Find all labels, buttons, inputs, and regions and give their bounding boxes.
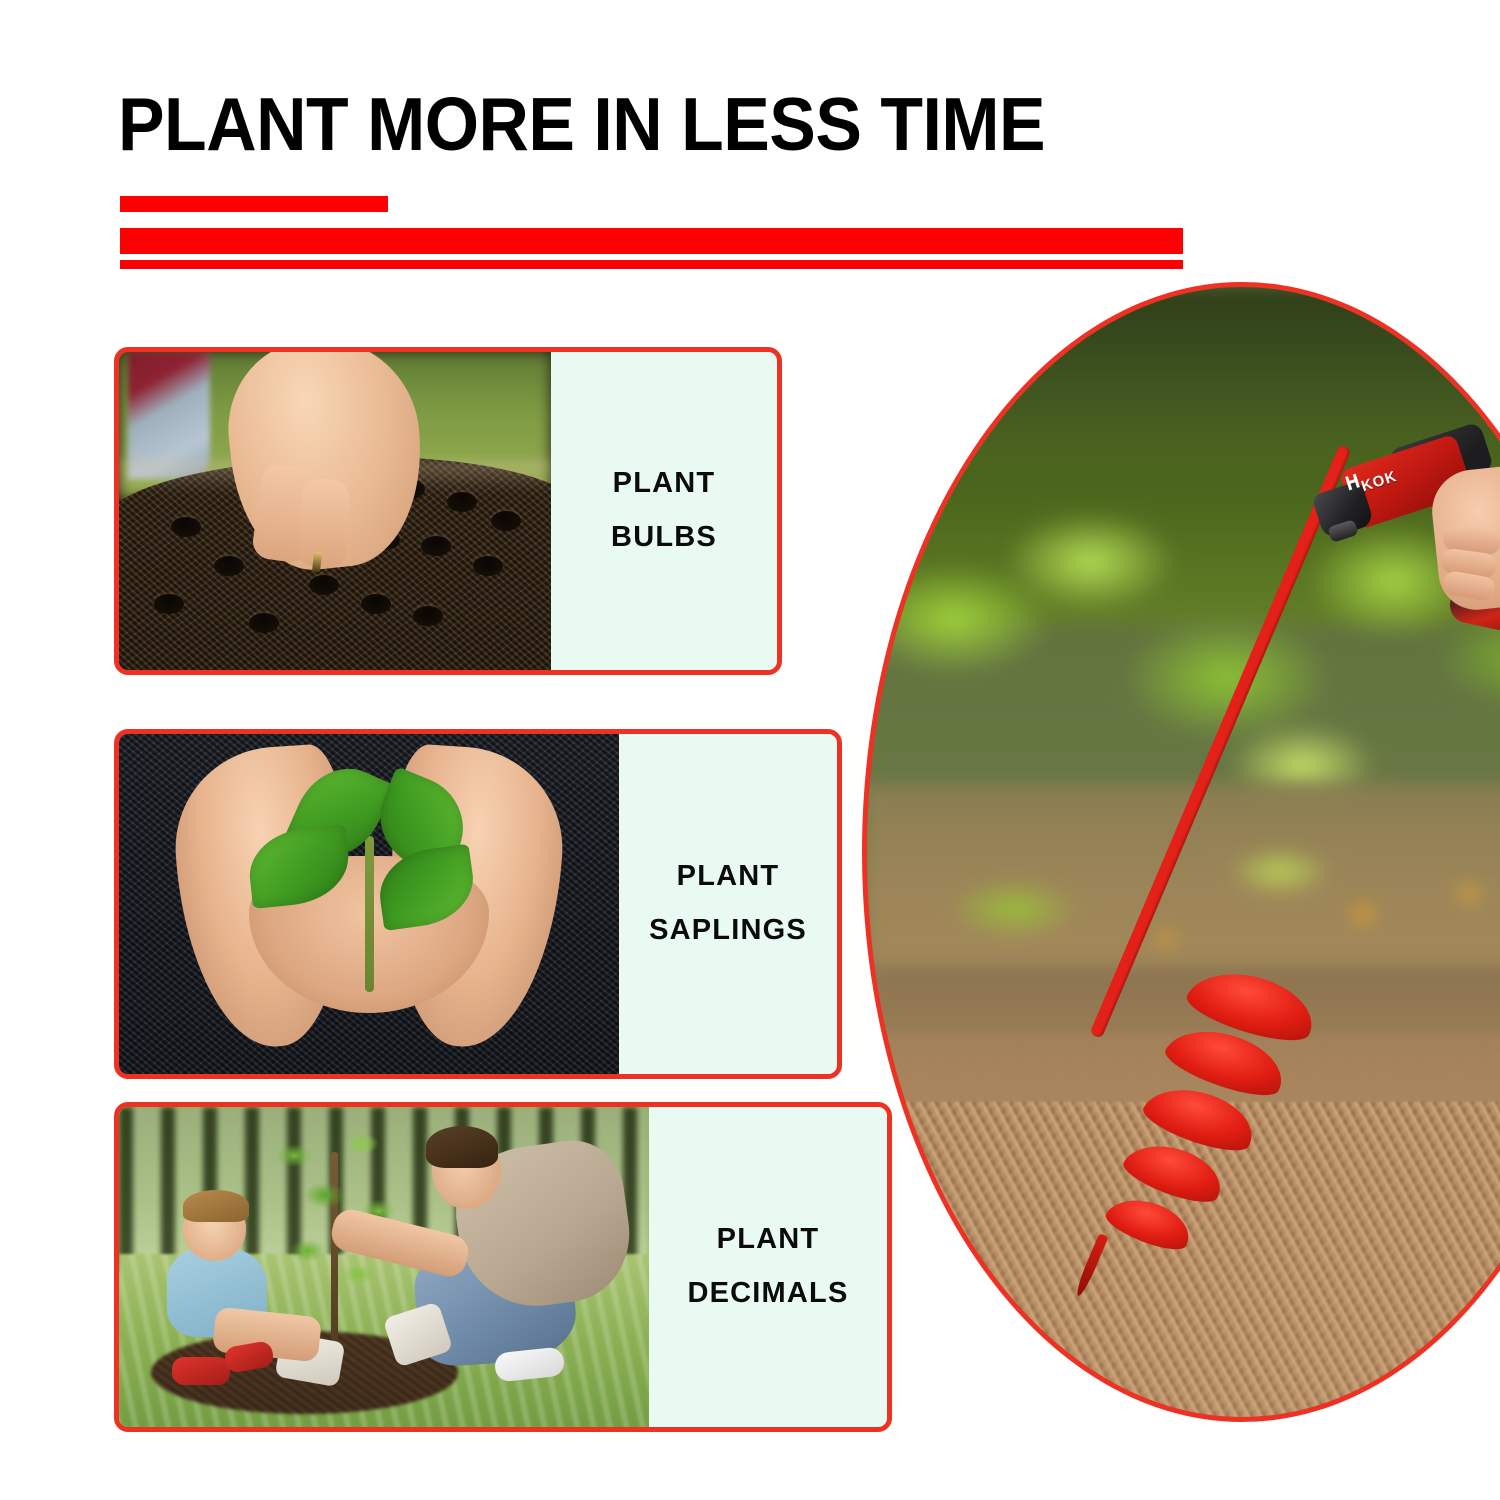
soil-hole bbox=[249, 613, 279, 633]
poster-canvas: PLANT MORE IN LESS TIME bbox=[0, 0, 1500, 1500]
feature-photo-plant-saplings bbox=[119, 734, 619, 1074]
feature-label-line2: DECIMALS bbox=[687, 1267, 848, 1321]
accent-rule-short bbox=[120, 196, 388, 212]
soil-hole bbox=[154, 594, 184, 614]
soil-hole bbox=[491, 511, 521, 531]
photo-boy-shoe bbox=[172, 1357, 230, 1386]
page-title: PLANT MORE IN LESS TIME bbox=[118, 86, 1045, 163]
feature-card-plant-bulbs[interactable]: PLANT BULBS bbox=[114, 347, 782, 675]
photo-boy-hair bbox=[183, 1190, 249, 1222]
photo-man-hair bbox=[426, 1126, 498, 1168]
feature-photo-plant-decimals bbox=[119, 1107, 649, 1427]
photo-hands-sapling bbox=[119, 734, 619, 1074]
auger-shaft bbox=[1089, 444, 1351, 1038]
auger-tool: KOK bbox=[867, 287, 1500, 1417]
cordless-drill: KOK bbox=[1339, 435, 1500, 635]
soil-hole bbox=[214, 556, 244, 576]
feature-label-line1: PLANT bbox=[613, 457, 716, 511]
photo-finger bbox=[298, 478, 350, 569]
accent-rule-thin bbox=[120, 260, 1183, 269]
accent-rule-thick bbox=[120, 228, 1183, 254]
soil-hole bbox=[473, 556, 503, 576]
soil-hole bbox=[447, 492, 477, 512]
feature-label-line2: SAPLINGS bbox=[649, 904, 807, 958]
auger-flight bbox=[1100, 1189, 1200, 1256]
feature-label-plant-decimals: PLANT DECIMALS bbox=[649, 1107, 887, 1427]
soil-hole bbox=[309, 575, 339, 595]
auger-tip bbox=[1074, 1233, 1109, 1298]
photo-sapling-stem bbox=[365, 836, 374, 992]
soil-hole bbox=[361, 594, 391, 614]
feature-label-line1: PLANT bbox=[677, 850, 780, 904]
feature-label-line1: PLANT bbox=[717, 1213, 820, 1267]
photo-seed-sowing bbox=[119, 352, 551, 670]
feature-label-plant-bulbs: PLANT BULBS bbox=[551, 352, 777, 670]
feature-label-line2: BULBS bbox=[611, 511, 717, 565]
feature-card-plant-decimals[interactable]: PLANT DECIMALS bbox=[114, 1102, 892, 1432]
feature-photo-plant-bulbs bbox=[119, 352, 551, 670]
feature-label-plant-saplings: PLANT SAPLINGS bbox=[619, 734, 837, 1074]
photo-tree-planting bbox=[119, 1107, 649, 1427]
feature-card-plant-saplings[interactable]: PLANT SAPLINGS bbox=[114, 729, 842, 1079]
hero-product-photo: KOK bbox=[862, 282, 1500, 1422]
